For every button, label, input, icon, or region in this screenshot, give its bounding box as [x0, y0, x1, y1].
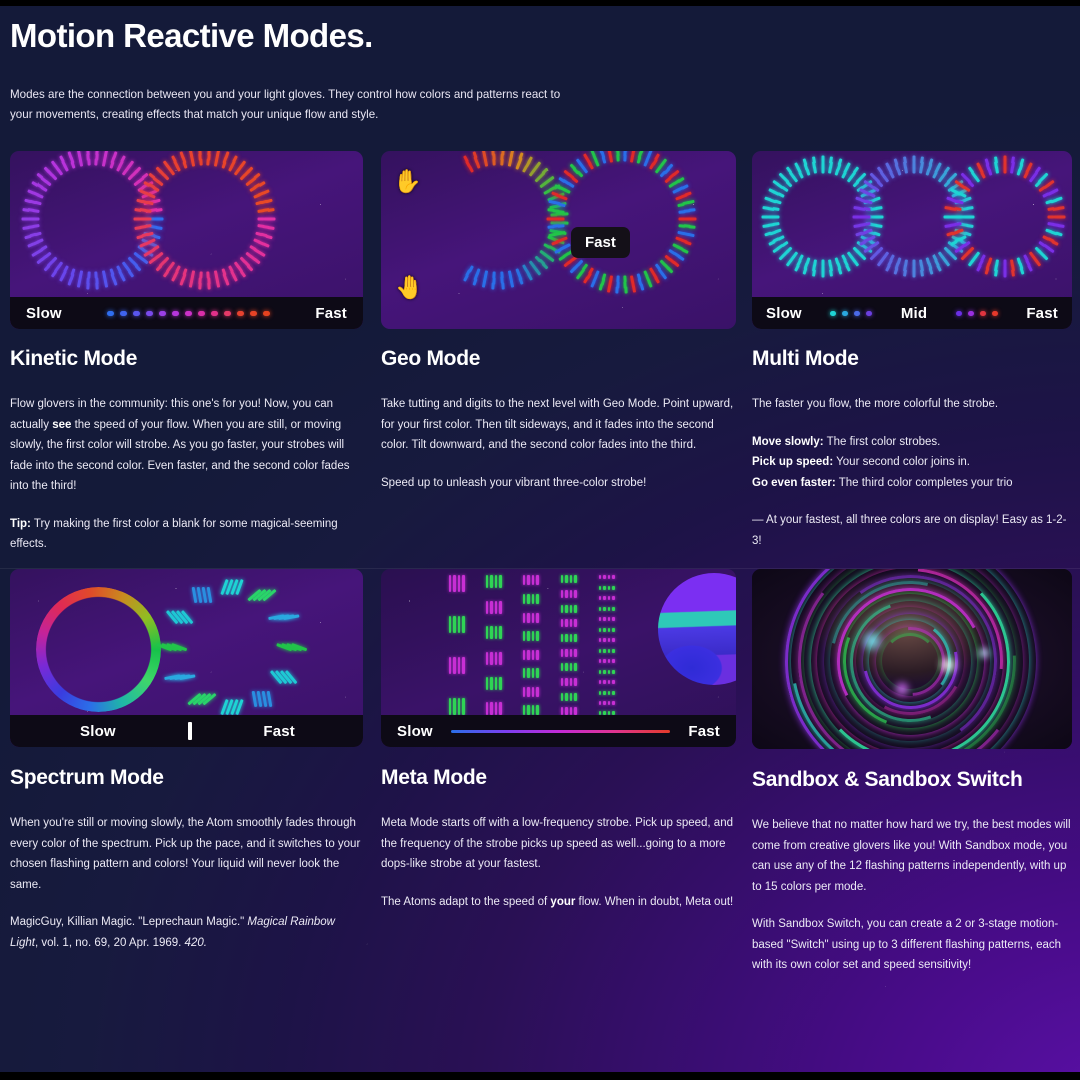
- mode-body-geo: Take tutting and digits to the next leve…: [381, 394, 736, 493]
- slider-dot: [842, 311, 848, 316]
- paragraph: The Atoms adapt to the speed of your flo…: [381, 892, 736, 912]
- text-run: Try making the first color a blank for s…: [10, 518, 338, 550]
- paragraph: Meta Mode starts off with a low-frequenc…: [381, 813, 736, 874]
- sandbox-light-trails: [752, 569, 1072, 749]
- text-run: The first color strobes.: [824, 436, 941, 448]
- mode-title-meta: Meta Mode: [381, 766, 736, 790]
- mode-title-geo: Geo Mode: [381, 347, 736, 371]
- slider-dot: [980, 311, 986, 316]
- text-run: see: [52, 419, 71, 431]
- slider-tick-marker[interactable]: [188, 722, 192, 740]
- page-root: Motion Reactive Modes. Modes are the con…: [0, 6, 1080, 1072]
- slider-dot: [854, 311, 860, 316]
- paragraph: MagicGuy, Killian Magic. "Leprechaun Mag…: [10, 912, 363, 953]
- spectrum-speed-slider[interactable]: Slow Fast: [10, 715, 363, 747]
- mode-card-multi[interactable]: Slow Mid Fast Multi Mode The faster you …: [746, 151, 1080, 554]
- strobe-column: [561, 569, 587, 715]
- slider-label-slow: Slow: [26, 305, 62, 322]
- slider-dot: [830, 311, 836, 316]
- slider-dot: [992, 311, 998, 316]
- slider-label-slow: Slow: [397, 723, 433, 740]
- slider-label-fast: Fast: [688, 723, 720, 740]
- slider-label-fast: Fast: [263, 723, 295, 740]
- slider-dot: [866, 311, 872, 316]
- slider-dot: [237, 311, 244, 316]
- modes-grid: Slow Fast Kinetic Mode Flow glovers in t…: [0, 151, 1080, 976]
- text-run: — At your fastest, all three colors are …: [752, 514, 1066, 546]
- kinetic-visual: Slow Fast: [10, 151, 363, 329]
- mode-title-multi: Multi Mode: [752, 347, 1072, 371]
- slider-dot: [224, 311, 231, 316]
- paragraph: We believe that no matter how hard we tr…: [752, 815, 1072, 897]
- slider-label-slow: Slow: [766, 305, 802, 322]
- paragraph: With Sandbox Switch, you can create a 2 …: [752, 914, 1072, 975]
- slider-dot: [120, 311, 127, 316]
- text-run: Go even faster:: [752, 477, 836, 489]
- text-run: Speed up to unleash your vibrant three-c…: [381, 477, 646, 489]
- slider-gradient-line[interactable]: [451, 730, 671, 733]
- geo-visual: ✋ 🤚 Fast: [381, 151, 736, 329]
- multi-visual: Slow Mid Fast: [752, 151, 1072, 329]
- slider-dot: [968, 311, 974, 316]
- text-run: 420.: [185, 937, 207, 949]
- slider-dots-left: [830, 311, 872, 316]
- text-run: The third color completes your trio: [836, 477, 1013, 489]
- strobe-column: [599, 569, 625, 715]
- strobe-column: [449, 569, 475, 715]
- text-run: With Sandbox Switch, you can create a 2 …: [752, 918, 1061, 971]
- mode-card-sandbox[interactable]: Sandbox & Sandbox Switch We believe that…: [746, 569, 1080, 975]
- sandbox-photo: [752, 569, 1072, 749]
- slider-label-mid: Mid: [901, 305, 927, 322]
- hand-open-icon: ✋: [393, 167, 419, 195]
- text-run: We believe that no matter how hard we tr…: [752, 819, 1071, 892]
- text-run: flow. When in doubt, Meta out!: [575, 896, 733, 908]
- mode-body-spectrum: When you're still or moving slowly, the …: [10, 813, 363, 953]
- strobe-column: [486, 569, 512, 715]
- geo-rings: [381, 151, 736, 329]
- mode-card-geo[interactable]: ✋ 🤚 Fast Geo Mode Take tutting and digit…: [373, 151, 746, 554]
- spectrum-visual: Slow Fast: [10, 569, 363, 747]
- mode-card-spectrum[interactable]: Slow Fast Spectrum Mode When you're stil…: [0, 569, 373, 975]
- slider-dot: [146, 311, 153, 316]
- mode-body-kinetic: Flow glovers in the community: this one'…: [10, 394, 363, 554]
- geo-fast-badge: Fast: [571, 227, 630, 258]
- text-run: The faster you flow, the more colorful t…: [752, 398, 998, 410]
- slider-dots-right: [956, 311, 998, 316]
- slider-label-fast: Fast: [315, 305, 347, 322]
- slider-dot: [133, 311, 140, 316]
- text-run: Your second color joins in.: [833, 456, 970, 468]
- text-run: Pick up speed:: [752, 456, 833, 468]
- meta-speed-slider[interactable]: Slow Fast: [381, 715, 736, 747]
- multi-speed-slider[interactable]: Slow Mid Fast: [752, 297, 1072, 329]
- text-run: MagicGuy, Killian Magic. "Leprechaun Mag…: [10, 916, 247, 928]
- mode-title-spectrum: Spectrum Mode: [10, 766, 363, 790]
- page-title: Motion Reactive Modes.: [10, 18, 1070, 54]
- kinetic-speed-slider[interactable]: Slow Fast: [10, 297, 363, 329]
- paragraph: Tip: Try making the first color a blank …: [10, 514, 363, 555]
- text-run: your: [550, 896, 575, 908]
- paragraph: The faster you flow, the more colorful t…: [752, 394, 1072, 414]
- mode-body-sandbox: We believe that no matter how hard we tr…: [752, 815, 1072, 975]
- hand-pointing-icon: 🤚: [395, 273, 421, 301]
- slider-dot: [250, 311, 257, 316]
- paragraph: Take tutting and digits to the next leve…: [381, 394, 736, 455]
- paragraph: Speed up to unleash your vibrant three-c…: [381, 473, 736, 493]
- mode-card-kinetic[interactable]: Slow Fast Kinetic Mode Flow glovers in t…: [0, 151, 373, 554]
- mode-body-meta: Meta Mode starts off with a low-frequenc…: [381, 813, 736, 912]
- text-run: When you're still or moving slowly, the …: [10, 817, 360, 890]
- text-run: The Atoms adapt to the speed of: [381, 896, 550, 908]
- slider-dot: [211, 311, 218, 316]
- page-intro: Modes are the connection between you and…: [10, 85, 585, 125]
- slider-dot: [956, 311, 962, 316]
- text-run: Tip:: [10, 518, 31, 530]
- mode-card-meta[interactable]: Slow Fast Meta Mode Meta Mode starts off…: [373, 569, 746, 975]
- paragraph: Move slowly: The first color strobes.Pic…: [752, 432, 1072, 493]
- mode-title-sandbox: Sandbox & Sandbox Switch: [752, 768, 1072, 792]
- slider-dots: [107, 311, 270, 316]
- paragraph: When you're still or moving slowly, the …: [10, 813, 363, 895]
- slider-dot: [198, 311, 205, 316]
- slider-label-slow: Slow: [80, 723, 116, 740]
- slider-dot: [159, 311, 166, 316]
- slider-dot: [263, 311, 270, 316]
- paragraph: — At your fastest, all three colors are …: [752, 510, 1072, 551]
- slider-dot: [172, 311, 179, 316]
- strobe-column: [523, 569, 549, 715]
- light-trail-arc: [756, 569, 1063, 749]
- paragraph: Flow glovers in the community: this one'…: [10, 394, 363, 496]
- meta-visual: Slow Fast: [381, 569, 736, 747]
- text-run: Take tutting and digits to the next leve…: [381, 398, 733, 451]
- mode-title-kinetic: Kinetic Mode: [10, 347, 363, 371]
- mode-body-multi: The faster you flow, the more colorful t…: [752, 394, 1072, 551]
- slider-label-fast: Fast: [1026, 305, 1058, 322]
- slider-dot: [185, 311, 192, 316]
- page-header: Motion Reactive Modes. Modes are the con…: [0, 6, 1080, 125]
- text-run: Meta Mode starts off with a low-frequenc…: [381, 817, 733, 870]
- text-run: Move slowly:: [752, 436, 824, 448]
- text-run: , vol. 1, no. 69, 20 Apr. 1969.: [35, 937, 185, 949]
- slider-dot: [107, 311, 114, 316]
